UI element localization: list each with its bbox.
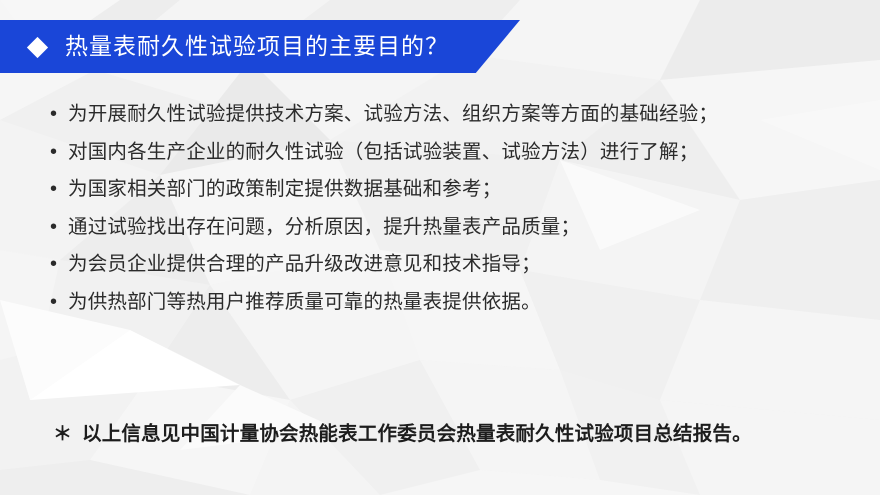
list-item-label: 为会员企业提供合理的产品升级改进意见和技术指导；	[68, 251, 541, 278]
list-item-label: 通过试验找出存在问题，分析原因，提升热量表产品质量；	[68, 214, 580, 241]
bullet-marker-icon: •	[50, 251, 68, 278]
list-item: • 为国家相关部门的政策制定提供数据基础和参考；	[50, 176, 850, 214]
list-item-label: 为国家相关部门的政策制定提供数据基础和参考；	[68, 176, 501, 203]
bullet-marker-icon: •	[50, 176, 68, 203]
list-item: • 为供热部门等热用户推荐质量可靠的热量表提供依据。	[50, 289, 850, 327]
list-item: • 为开展耐久性试验提供技术方案、试验方法、组织方案等方面的基础经验；	[50, 101, 850, 139]
bullet-marker-icon: •	[50, 214, 68, 241]
footnote-label: 以上信息见中国计量协会热能表工作委员会热量表耐久性试验项目总结报告。	[82, 421, 752, 447]
title-banner: 热量表耐久性试验项目的主要目的？	[0, 20, 520, 73]
list-item-label: 对国内各生产企业的耐久性试验（包括试验装置、试验方法）进行了解；	[68, 139, 698, 166]
bullet-marker-icon: •	[50, 139, 68, 166]
list-item-label: 为开展耐久性试验提供技术方案、试验方法、组织方案等方面的基础经验；	[68, 101, 718, 128]
diamond-icon	[27, 36, 48, 57]
title-row: 热量表耐久性试验项目的主要目的？	[30, 20, 449, 73]
list-item: • 为会员企业提供合理的产品升级改进意见和技术指导；	[50, 251, 850, 289]
bullet-list: • 为开展耐久性试验提供技术方案、试验方法、组织方案等方面的基础经验； • 对国…	[50, 101, 850, 326]
footnote: ＊ 以上信息见中国计量协会热能表工作委员会热量表耐久性试验项目总结报告。	[53, 421, 752, 448]
list-item: • 对国内各生产企业的耐久性试验（包括试验装置、试验方法）进行了解；	[50, 139, 850, 177]
list-item: • 通过试验找出存在问题，分析原因，提升热量表产品质量；	[50, 214, 850, 252]
slide-canvas: 热量表耐久性试验项目的主要目的？ • 为开展耐久性试验提供技术方案、试验方法、组…	[0, 0, 880, 495]
list-item-label: 为供热部门等热用户推荐质量可靠的热量表提供依据。	[68, 289, 541, 316]
bullet-marker-icon: •	[50, 101, 68, 128]
asterisk-icon: ＊	[53, 422, 72, 448]
page-title: 热量表耐久性试验项目的主要目的？	[65, 35, 449, 58]
bullet-marker-icon: •	[50, 289, 68, 316]
